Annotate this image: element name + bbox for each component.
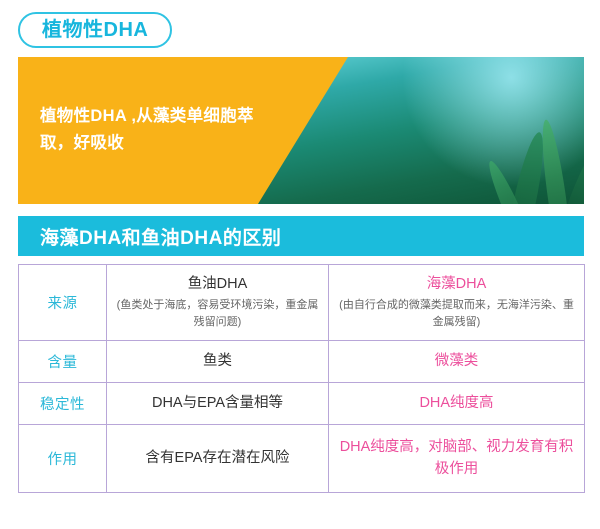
- comparison-table: 来源 鱼油DHA (鱼类处于海底，容易受环境污染，重金属残留问题) 海藻DHA …: [18, 264, 585, 493]
- hero-caption: 植物性DHA ,从藻类单细胞萃取，好吸收: [40, 103, 280, 157]
- row-label-cell: 来源: [19, 265, 107, 341]
- fish-value: 含有EPA存在潜在风险: [113, 448, 322, 470]
- fish-cell: DHA与EPA含量相等: [107, 383, 329, 425]
- fish-value: 鱼油DHA: [113, 274, 322, 296]
- row-label: 作用: [25, 448, 100, 469]
- row-label: 含量: [25, 351, 100, 372]
- row-label-cell: 含量: [19, 341, 107, 383]
- fish-value: DHA与EPA含量相等: [113, 393, 322, 415]
- algae-cell: 海藻DHA (由自行合成的微藻类提取而来，无海洋污染、重金属残留): [329, 265, 585, 341]
- algae-cell: DHA纯度高: [329, 383, 585, 425]
- algae-cell: DHA纯度高，对脑部、视力发育有积极作用: [329, 425, 585, 493]
- table-row: 作用 含有EPA存在潜在风险 DHA纯度高，对脑部、视力发育有积极作用: [19, 425, 585, 493]
- page-title: 植物性DHA: [42, 20, 148, 40]
- row-label-cell: 稳定性: [19, 383, 107, 425]
- table-row: 含量 鱼类 微藻类: [19, 341, 585, 383]
- algae-value: DHA纯度高: [335, 393, 578, 415]
- row-label: 来源: [25, 292, 100, 313]
- fish-cell: 含有EPA存在潜在风险: [107, 425, 329, 493]
- table-row: 来源 鱼油DHA (鱼类处于海底，容易受环境污染，重金属残留问题) 海藻DHA …: [19, 265, 585, 341]
- algae-value: 海藻DHA: [335, 274, 578, 296]
- fish-note: (鱼类处于海底，容易受环境污染，重金属残留问题): [113, 297, 322, 331]
- page-title-pill: 植物性DHA: [18, 12, 172, 48]
- algae-cell: 微藻类: [329, 341, 585, 383]
- infographic-page: 植物性DHA 植物性DHA ,从藻类单细胞萃取，好吸收 海藻DHA和鱼油DHA的…: [0, 0, 600, 529]
- section-heading-label: 海藻DHA和鱼油DHA的区别: [18, 223, 281, 250]
- row-label-cell: 作用: [19, 425, 107, 493]
- algae-value: 微藻类: [335, 351, 578, 373]
- fish-value: 鱼类: [113, 351, 322, 373]
- hero-banner: 植物性DHA ,从藻类单细胞萃取，好吸收: [18, 57, 584, 204]
- algae-value: DHA纯度高，对脑部、视力发育有积极作用: [335, 437, 578, 481]
- algae-note: (由自行合成的微藻类提取而来，无海洋污染、重金属残留): [335, 297, 578, 331]
- fish-cell: 鱼类: [107, 341, 329, 383]
- section-heading-bar: 海藻DHA和鱼油DHA的区别: [18, 216, 584, 256]
- fish-cell: 鱼油DHA (鱼类处于海底，容易受环境污染，重金属残留问题): [107, 265, 329, 341]
- table-row: 稳定性 DHA与EPA含量相等 DHA纯度高: [19, 383, 585, 425]
- row-label: 稳定性: [25, 393, 100, 414]
